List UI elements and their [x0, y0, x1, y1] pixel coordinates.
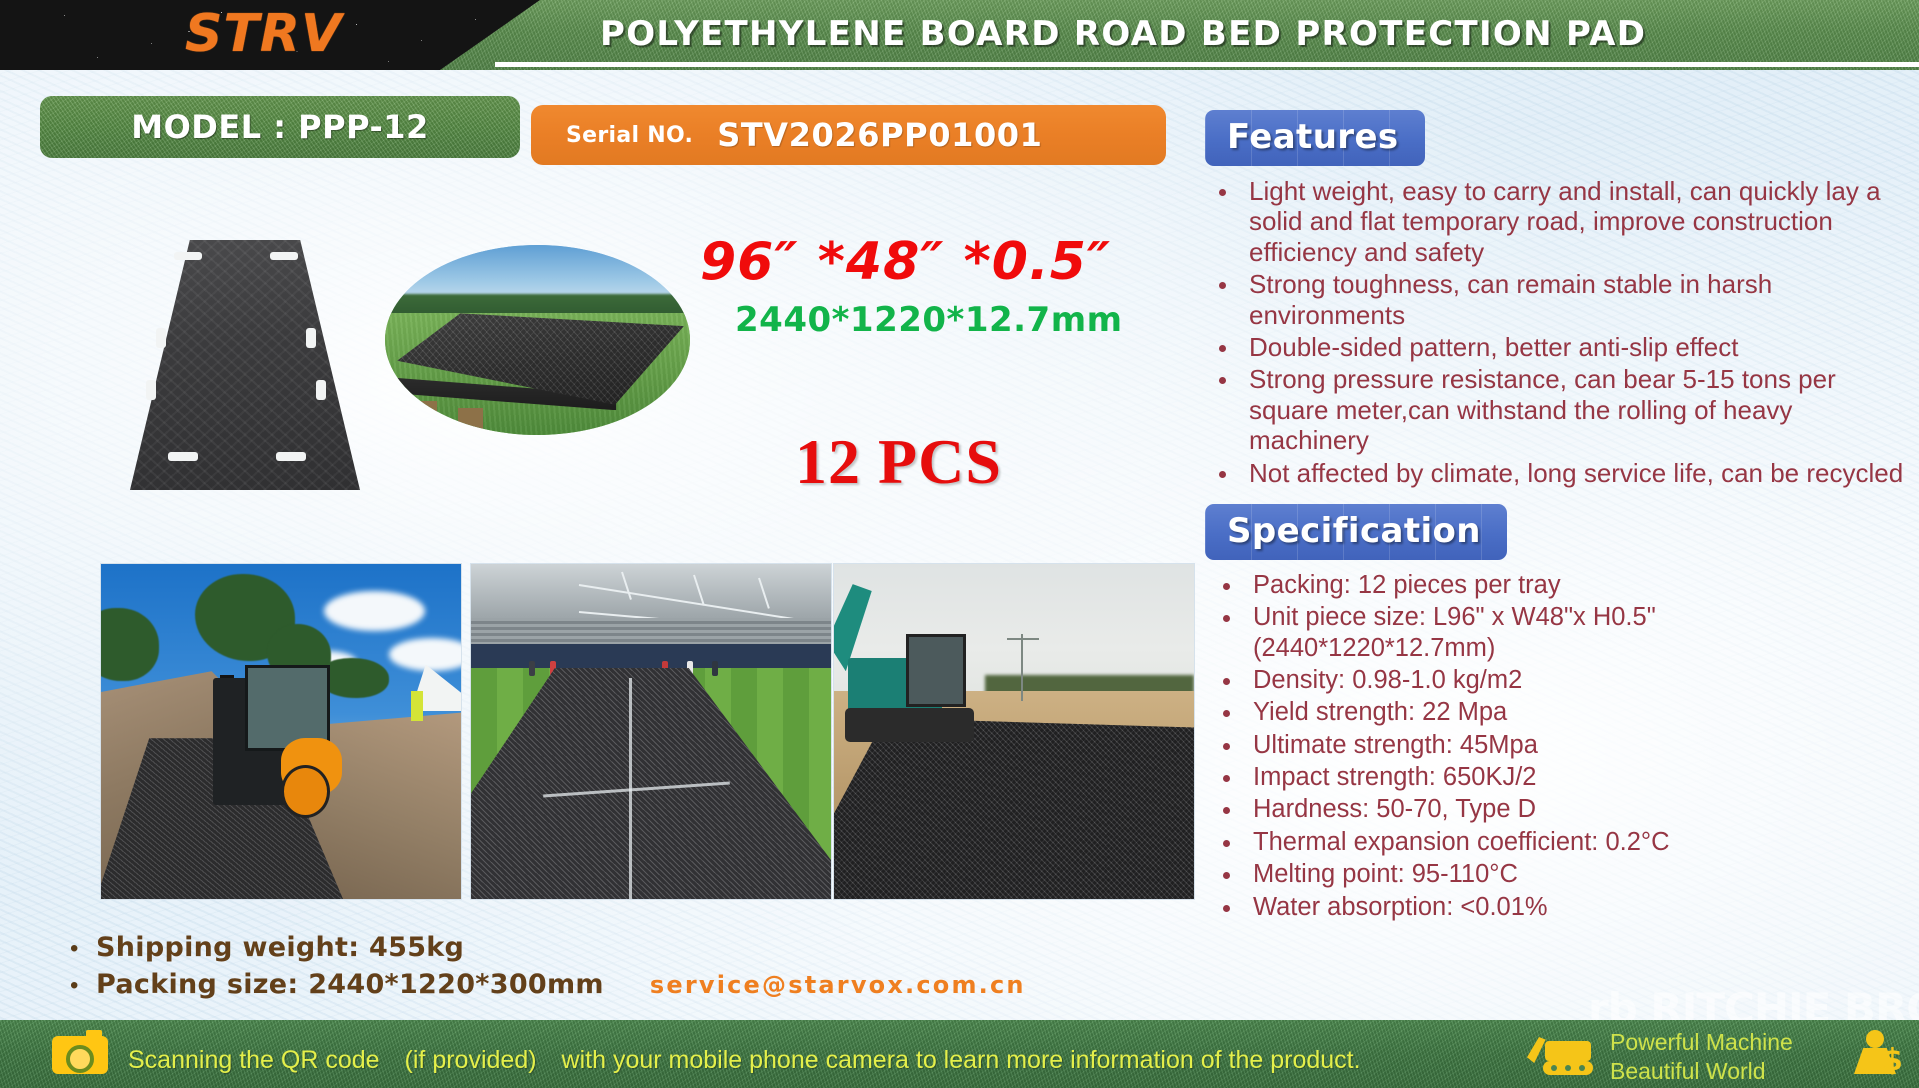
application-photo-excavator — [833, 563, 1195, 900]
bullet-icon: • — [70, 974, 96, 998]
specification-list: Packing: 12 pieces per trayUnit piece si… — [1205, 570, 1905, 922]
application-photo-stadium — [470, 563, 832, 900]
poster-title: POLYETHYLENE BOARD ROAD BED PROTECTION P… — [600, 14, 1646, 54]
footer-note: Scanning the QR code (if provided) with … — [128, 1040, 1361, 1076]
company-slogan: Powerful Machine Beautiful World — [1610, 1028, 1840, 1086]
photo-worker — [411, 691, 424, 721]
mat-handle-slot — [270, 252, 298, 260]
mat-handle-slot — [174, 252, 202, 260]
slogan-line-2: Beautiful World — [1610, 1057, 1840, 1086]
contact-email[interactable]: service@starvox.com.cn — [650, 971, 1026, 999]
application-photo-forklift — [100, 563, 462, 900]
specification-item: Density: 0.98-1.0 kg/m2 — [1205, 665, 1905, 695]
photo-excavator-cab — [906, 634, 966, 707]
specification-item: Packing: 12 pieces per tray — [1205, 570, 1905, 600]
stacked-mats-photo — [385, 245, 690, 435]
specification-item: Yield strength: 22 Mpa — [1205, 697, 1905, 727]
mat-handle-slot — [146, 380, 156, 400]
photo-utility-pole — [1021, 634, 1023, 701]
dimension-inches: 96″ *48″ *0.5″ — [700, 232, 1111, 292]
excavator-track-shape — [1543, 1061, 1593, 1075]
packing-size: Packing size: 2440*1220*300mm — [96, 969, 604, 1000]
feature-item: Strong pressure resistance, can bear 5-1… — [1205, 364, 1905, 455]
mat-handle-slot — [156, 328, 166, 348]
specification-item: Hardness: 50-70, Type D — [1205, 794, 1905, 824]
excavator-body-shape — [1545, 1041, 1591, 1061]
shipping-weight-row: • Shipping weight: 455kg — [70, 932, 1160, 963]
serial-label: Serial NO. — [566, 123, 693, 148]
features-list: Light weight, easy to carry and install,… — [1205, 176, 1905, 488]
photo-person — [712, 661, 718, 676]
photo-cloud — [324, 591, 425, 631]
icon-dollar-sign: $ — [1882, 1046, 1903, 1076]
model-label: MODEL : PPP-12 — [131, 108, 429, 146]
feature-item: Strong toughness, can remain stable in h… — [1205, 269, 1905, 330]
photo-pallet — [412, 401, 436, 422]
serial-value: STV2026PP01001 — [717, 116, 1042, 154]
shipping-weight: Shipping weight: 455kg — [96, 932, 464, 963]
photo-mat-road — [833, 718, 1195, 899]
feature-item: Light weight, easy to carry and install,… — [1205, 176, 1905, 267]
dimension-millimeters: 2440*1220*12.7mm — [735, 300, 1123, 340]
mat-handle-slot — [276, 452, 306, 461]
bullet-icon: • — [70, 937, 96, 961]
specification-item: Thermal expansion coefficient: 0.2°C — [1205, 827, 1905, 857]
product-spec-poster: STRV POLYETHYLENE BOARD ROAD BED PROTECT… — [0, 0, 1919, 1088]
feature-item: Double-sided pattern, better anti-slip e… — [1205, 332, 1905, 362]
mat-handle-slot — [316, 380, 326, 400]
slogan-line-1: Powerful Machine — [1610, 1028, 1840, 1057]
mat-handle-slot — [306, 328, 316, 348]
photo-person — [529, 661, 535, 676]
serial-badge: Serial NO. STV2026PP01001 — [531, 105, 1166, 165]
specification-item: Melting point: 95-110°C — [1205, 859, 1905, 889]
mat-body — [130, 240, 360, 490]
feature-item: Not affected by climate, long service li… — [1205, 458, 1905, 488]
photo-utility-crossarm — [1007, 638, 1039, 640]
specification-item: Ultimate strength: 45Mpa — [1205, 730, 1905, 760]
quantity-label: 12 PCS — [795, 425, 1002, 499]
shipping-info: • Shipping weight: 455kg • Packing size:… — [70, 932, 1160, 1006]
camera-icon — [52, 1036, 108, 1074]
photo-forklift-wheel — [281, 765, 330, 818]
brand-logo: STRV — [185, 4, 342, 64]
specification-heading: Specification — [1205, 504, 1507, 560]
photo-pallet — [458, 408, 482, 429]
photo-excavator-track — [845, 708, 975, 742]
specification-item: Unit piece size: L96" x W48"x H0.5" (244… — [1205, 602, 1905, 663]
features-heading: Features — [1205, 110, 1425, 166]
specification-item: Water absorption: <0.01% — [1205, 892, 1905, 922]
excavator-icon — [1527, 1033, 1597, 1077]
businessman-dollar-icon: $ — [1852, 1030, 1900, 1078]
right-info-column: Features Light weight, easy to carry and… — [1205, 110, 1905, 924]
mat-handle-slot — [168, 452, 198, 461]
model-badge: MODEL : PPP-12 — [40, 96, 520, 158]
specification-item: Impact strength: 650KJ/2 — [1205, 762, 1905, 792]
packing-size-row: • Packing size: 2440*1220*300mm service@… — [70, 969, 1160, 1000]
poster-header: STRV POLYETHYLENE BOARD ROAD BED PROTECT… — [0, 0, 1919, 70]
header-underline — [495, 62, 1919, 67]
specification-heading-wrap: Specification — [1205, 504, 1905, 560]
product-mat-render — [130, 240, 360, 490]
